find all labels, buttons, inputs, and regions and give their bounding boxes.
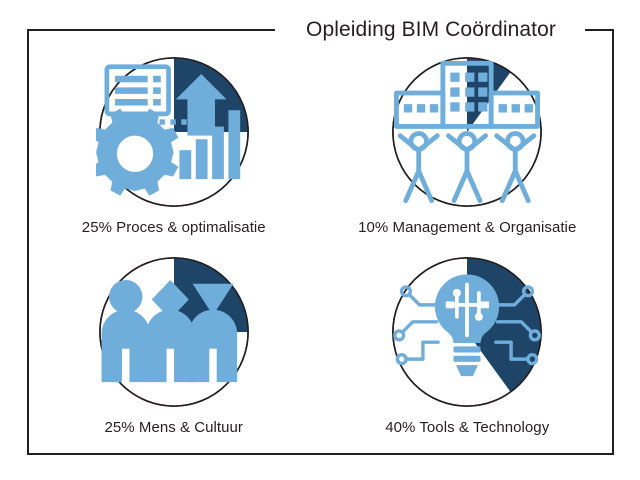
chart-caption-management-organisatie: 10% Management & Organisatie [358,219,576,236]
pie-chart-grid: 25% Proces & optimalisatie [27,40,614,452]
pie-chart-proces-optimalisatie [96,54,252,210]
chart-caption-tools-technology: 40% Tools & Technology [385,419,549,436]
pie-slice-filled [174,258,248,332]
pie-chart-mens-cultuur [96,254,252,410]
chart-card-management-organisatie: 10% Management & Organisatie [321,40,615,246]
slide-canvas: Opleiding BIM Coördinator [0,0,640,480]
chart-card-mens-cultuur: 25% Mens & Cultuur [27,246,321,452]
pie-chart-tools-technology [389,254,545,410]
chart-card-tools-technology: 40% Tools & Technology [321,246,615,452]
chart-card-proces-optimalisatie: 25% Proces & optimalisatie [27,40,321,246]
pie-chart-management-organisatie [389,54,545,210]
chart-caption-proces-optimalisatie: 25% Proces & optimalisatie [82,219,266,236]
pie-slice-filled [174,58,248,132]
chart-caption-mens-cultuur: 25% Mens & Cultuur [105,419,243,436]
